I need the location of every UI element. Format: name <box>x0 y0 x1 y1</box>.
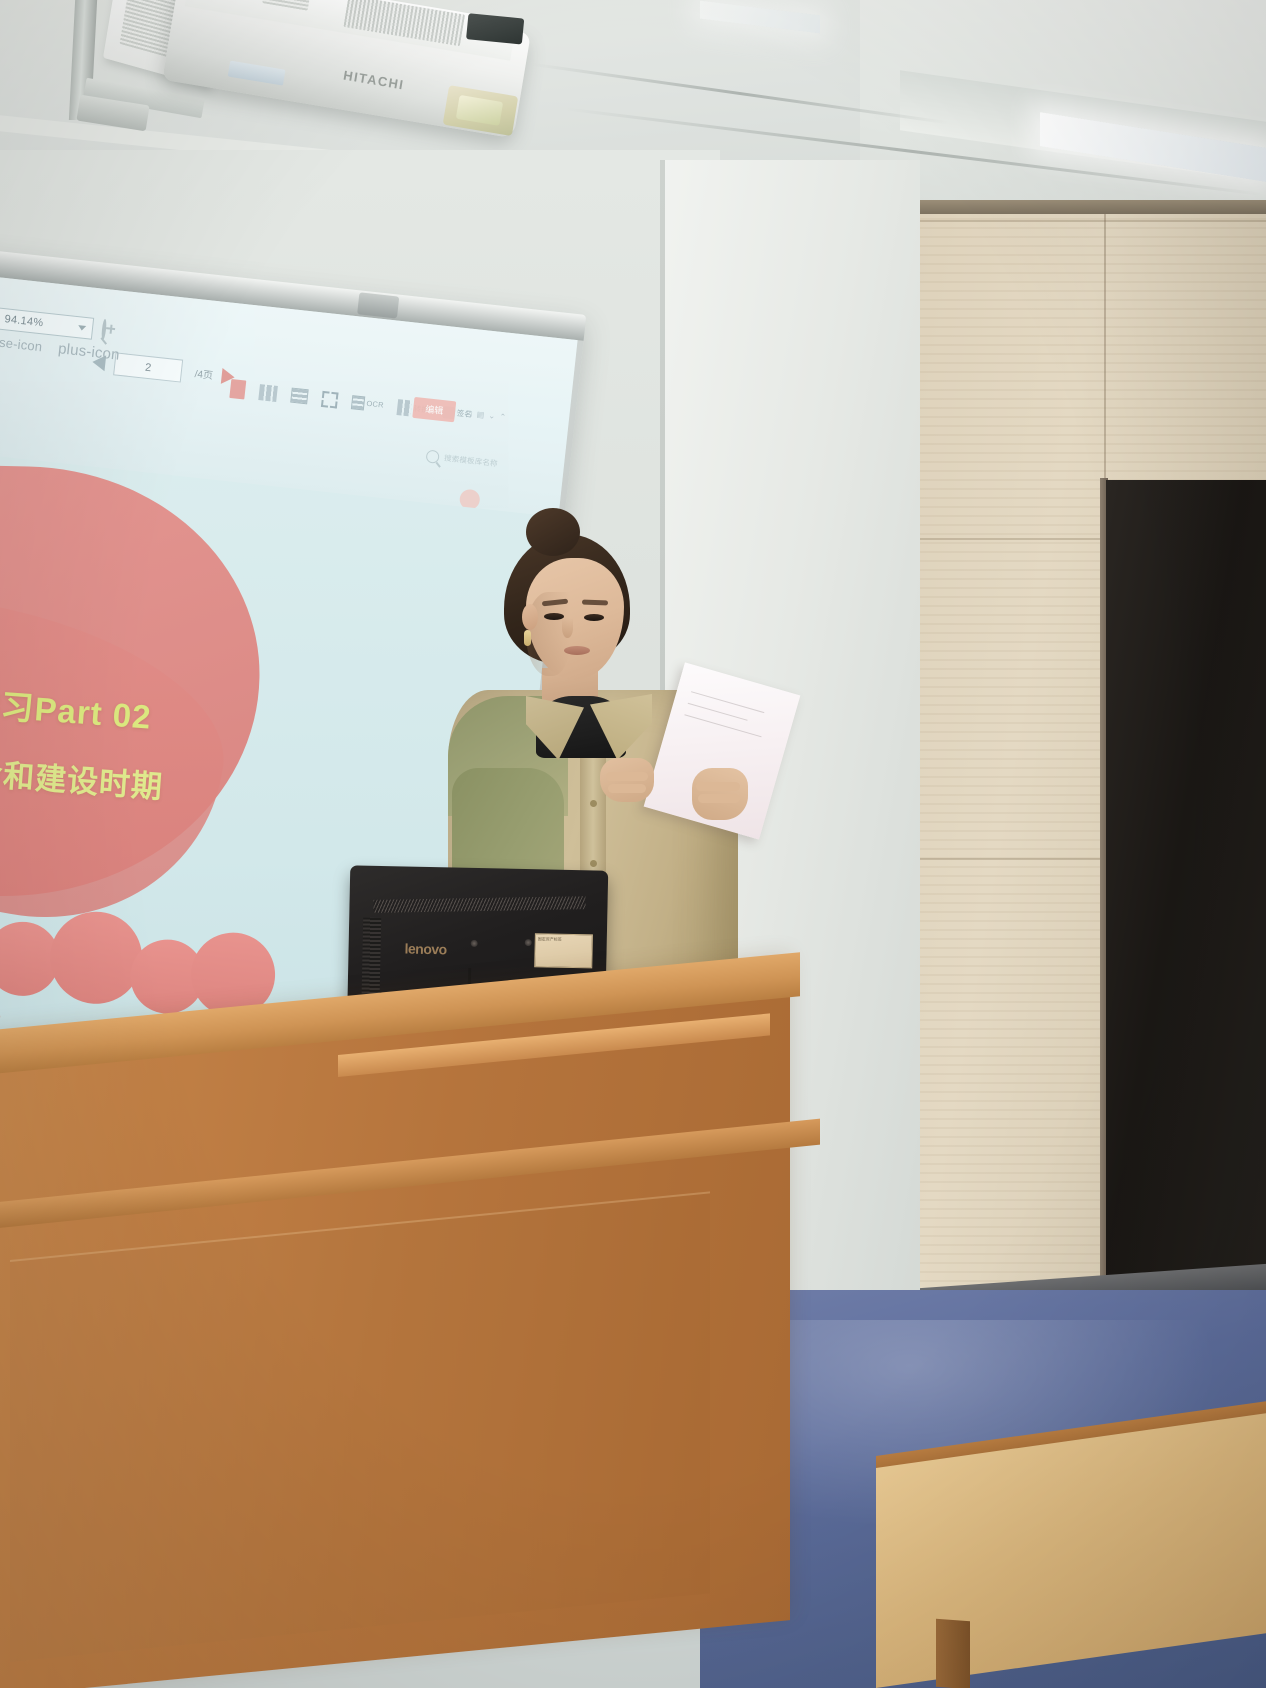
page-total-label: /4页 <box>194 365 214 382</box>
asset-tag-sticker: 固定资产标签 <box>534 933 593 968</box>
plus-icon[interactable]: plus-icon <box>57 340 120 364</box>
eye-left <box>544 613 564 620</box>
desk-leg <box>936 1619 970 1688</box>
close-icon[interactable]: close-icon <box>0 333 43 354</box>
ear <box>522 604 538 630</box>
eye-right <box>584 614 604 621</box>
page-tool-icon[interactable] <box>229 379 246 400</box>
eyebrow-right <box>582 600 608 606</box>
earring <box>524 630 531 646</box>
whiteboard-center-knob <box>357 292 399 318</box>
split-view-tool-icon[interactable] <box>258 384 278 402</box>
chevron-down-icon[interactable] <box>78 325 86 331</box>
zoom-level-value: 94.14% <box>4 313 44 329</box>
template-search[interactable]: 搜索模板库名称 <box>426 450 499 471</box>
mouth <box>564 646 590 655</box>
ocr-tool-label: OCR <box>366 399 384 410</box>
search-icon <box>426 450 440 464</box>
wall-crown-molding <box>918 200 1266 214</box>
projector-exhaust-shadow <box>466 13 524 44</box>
door <box>1106 480 1266 1320</box>
pdf-ribbon-tabs: 编辑 ▢ ▤ ⌄ ⌃ <box>412 397 508 428</box>
thumbnail-tool-icon[interactable] <box>290 388 309 405</box>
hair-bun <box>526 508 580 556</box>
convert-tool-icon[interactable] <box>397 399 413 416</box>
page-number-input[interactable]: 2 <box>113 352 183 382</box>
tab-edit[interactable]: 编辑 <box>412 397 456 422</box>
ribbon-overflow-icons[interactable]: ▢ ▤ ⌄ ⌃ <box>465 408 508 422</box>
monitor-brand-logo: lenovo <box>404 940 446 957</box>
nose <box>562 618 573 638</box>
classroom-photo: HITACHI 94.14% <box>0 0 1266 1688</box>
zoom-in-icon[interactable] <box>101 321 107 339</box>
podium-front-panel <box>10 1191 710 1662</box>
page-number-value: 2 <box>144 361 151 374</box>
ocr-tool-icon[interactable] <box>351 395 365 410</box>
search-placeholder: 搜索模板库名称 <box>444 452 499 469</box>
fit-page-tool-icon[interactable] <box>321 390 339 408</box>
